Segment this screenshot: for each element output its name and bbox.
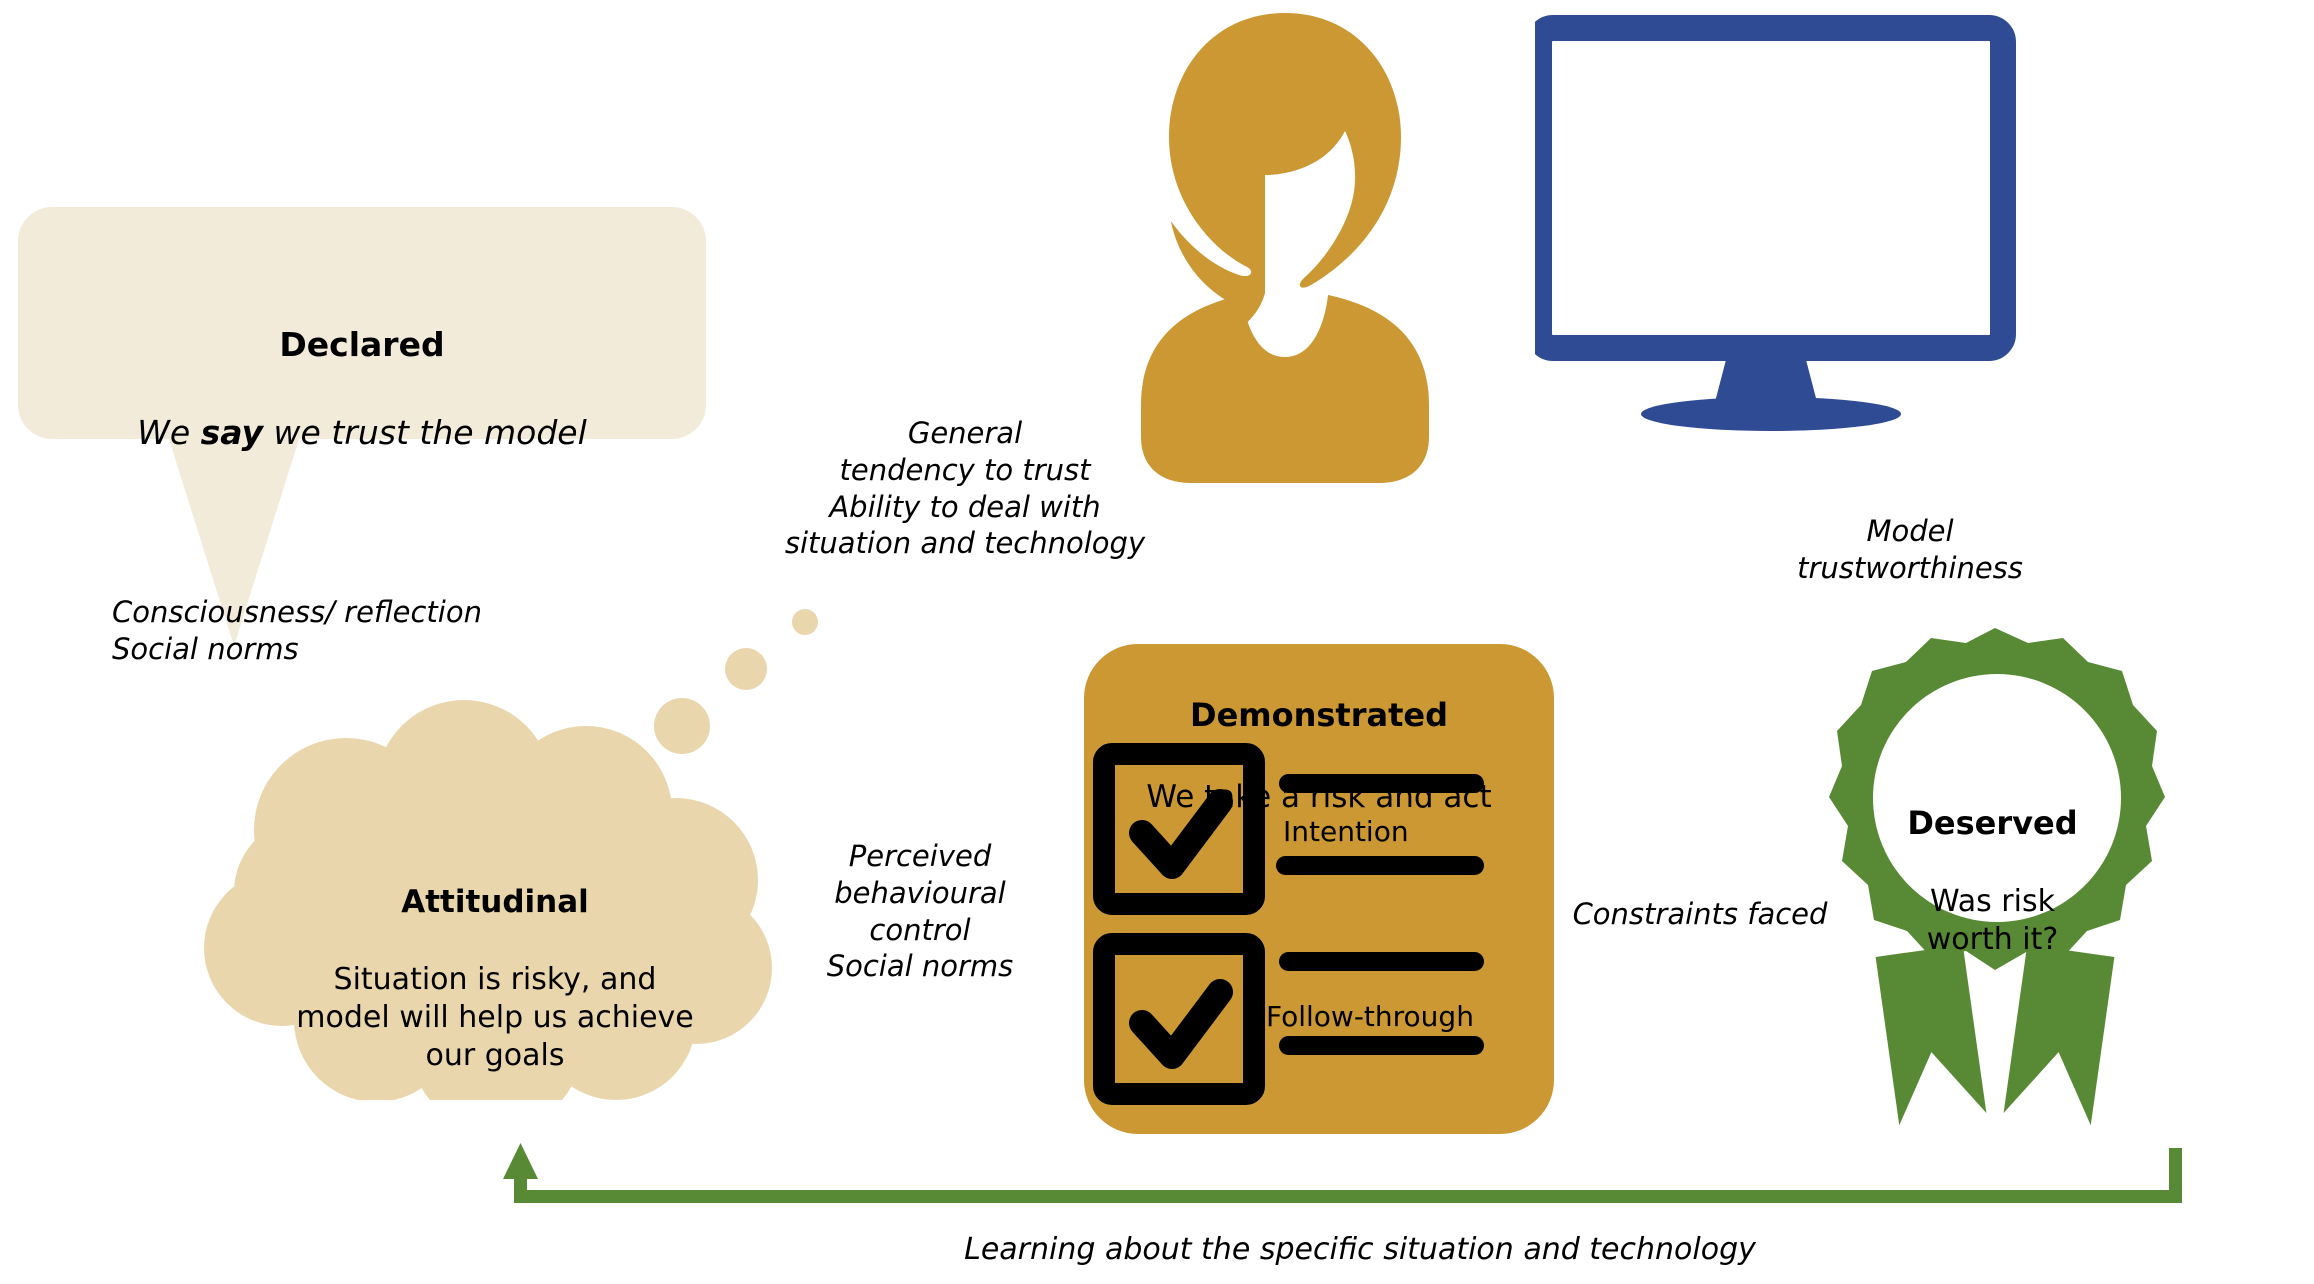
monitor-icon <box>1535 10 2025 450</box>
connector-label-person-factors: General tendency to trust Ability to dea… <box>740 415 1190 562</box>
attitudinal-heading: Attitudinal <box>270 883 720 922</box>
feedback-arrow-icon <box>490 1135 2200 1235</box>
connector-label-perceived-behavioural-control: Perceived behavioural control Social nor… <box>785 838 1055 985</box>
deserved-body: Was risk worth it? <box>1927 884 2059 957</box>
declared-heading: Declared <box>18 323 706 367</box>
attitudinal-label: Attitudinal Situation is risky, and mode… <box>270 845 720 1075</box>
diagram-canvas: Declared We say we trust the model Consc… <box>0 0 2314 1284</box>
thought-dot-small-icon <box>792 609 818 635</box>
demonstrated-checklist <box>1084 738 1554 1134</box>
checklist-item-label-follow-through: Follow-through <box>1266 1000 1474 1033</box>
connector-label-consciousness-reflection: Consciousness/ reflection Social norms <box>112 594 632 668</box>
declared-suffix: we trust the model <box>263 413 587 452</box>
checklist-item-label-intention: Intention <box>1283 815 1409 848</box>
checkbox-checked-icon <box>1104 944 1254 1094</box>
connector-label-constraints-faced: Constraints faced <box>1555 896 1845 933</box>
declared-label: Declared We say we trust the model <box>18 279 706 498</box>
thought-dot-medium-icon <box>725 648 767 690</box>
declared-prefix: We <box>137 413 200 452</box>
declared-emphasis: say <box>201 413 263 452</box>
attitudinal-body: Situation is risky, and model will help … <box>296 962 694 1073</box>
feedback-loop-caption: Learning about the specific situation an… <box>700 1232 2020 1267</box>
person-icon <box>1125 5 1445 485</box>
checkbox-checked-icon <box>1104 754 1254 904</box>
demonstrated-heading: Demonstrated <box>1084 695 1554 737</box>
connector-label-model-trustworthiness: Model trustworthiness <box>1740 513 2080 587</box>
deserved-label: Deserved Was risk worth it? <box>1875 765 2110 960</box>
declared-subtext: We say we trust the model <box>18 411 706 455</box>
deserved-heading: Deserved <box>1875 803 2110 844</box>
